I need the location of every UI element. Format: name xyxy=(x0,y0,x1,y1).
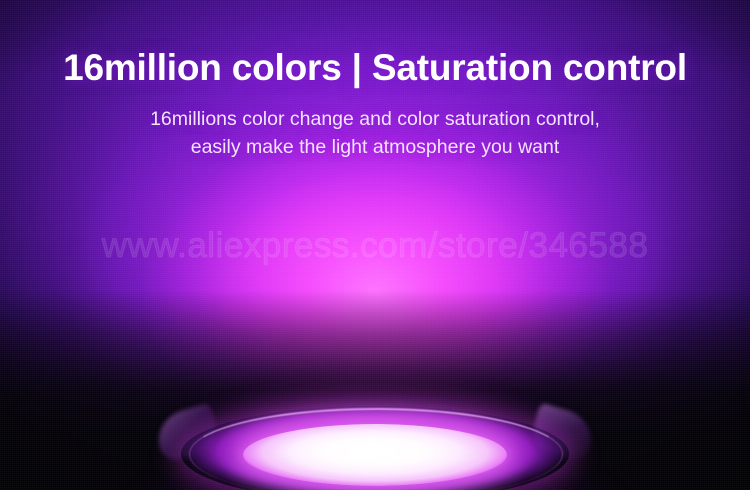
product-banner: www.aliexpress.com/store/346588 16millio… xyxy=(0,0,750,490)
banner-subtitle: 16millions color change and color satura… xyxy=(0,106,750,161)
fixture-diffuser-hotspot xyxy=(277,430,473,472)
banner-subtitle-line-2: easily make the light atmosphere you wan… xyxy=(0,134,750,162)
led-downlight-fixture xyxy=(165,398,585,490)
banner-headline: 16million colors | Saturation control xyxy=(0,48,750,89)
banner-subtitle-line-1: 16millions color change and color satura… xyxy=(0,106,750,134)
